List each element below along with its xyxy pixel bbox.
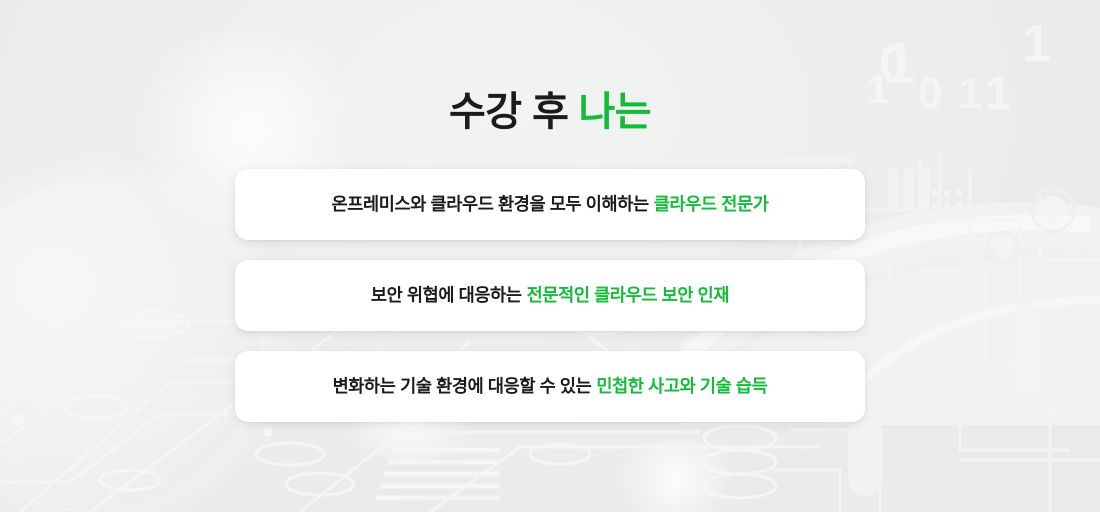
page-title: 수강 후나는	[0, 79, 1100, 137]
outcome-card-3-accent: 민첩한 사고와 기술 습득	[596, 376, 767, 396]
outcome-card-2-text: 보안 위협에 대응하는전문적인 클라우드 보안 인재	[371, 287, 729, 305]
slide-canvas: 1 0 1 0 1 1 1	[0, 0, 1100, 512]
outcome-card-3[interactable]: 변화하는 기술 환경에 대응할 수 있는민첩한 사고와 기술 습득	[235, 351, 865, 422]
page-title-accent: 나는	[578, 90, 651, 134]
outcome-card-1-accent: 클라우드 전문가	[654, 194, 769, 214]
outcome-card-1-lead: 온프레미스와 클라우드 환경을 모두 이해하는	[331, 194, 648, 214]
slide-content: 수강 후나는 온프레미스와 클라우드 환경을 모두 이해하는클라우드 전문가 보…	[0, 0, 1100, 512]
outcome-card-3-text: 변화하는 기술 환경에 대응할 수 있는민첩한 사고와 기술 습득	[333, 378, 768, 396]
outcome-card-2-lead: 보안 위협에 대응하는	[371, 285, 522, 305]
outcome-card-list: 온프레미스와 클라우드 환경을 모두 이해하는클라우드 전문가 보안 위협에 대…	[235, 169, 865, 422]
page-title-lead: 수강 후	[449, 90, 569, 134]
outcome-card-2[interactable]: 보안 위협에 대응하는전문적인 클라우드 보안 인재	[235, 260, 865, 331]
outcome-card-3-lead: 변화하는 기술 환경에 대응할 수 있는	[333, 376, 592, 396]
outcome-card-1-text: 온프레미스와 클라우드 환경을 모두 이해하는클라우드 전문가	[331, 196, 768, 214]
outcome-card-1[interactable]: 온프레미스와 클라우드 환경을 모두 이해하는클라우드 전문가	[235, 169, 865, 240]
outcome-card-2-accent: 전문적인 클라우드 보안 인재	[527, 285, 730, 305]
